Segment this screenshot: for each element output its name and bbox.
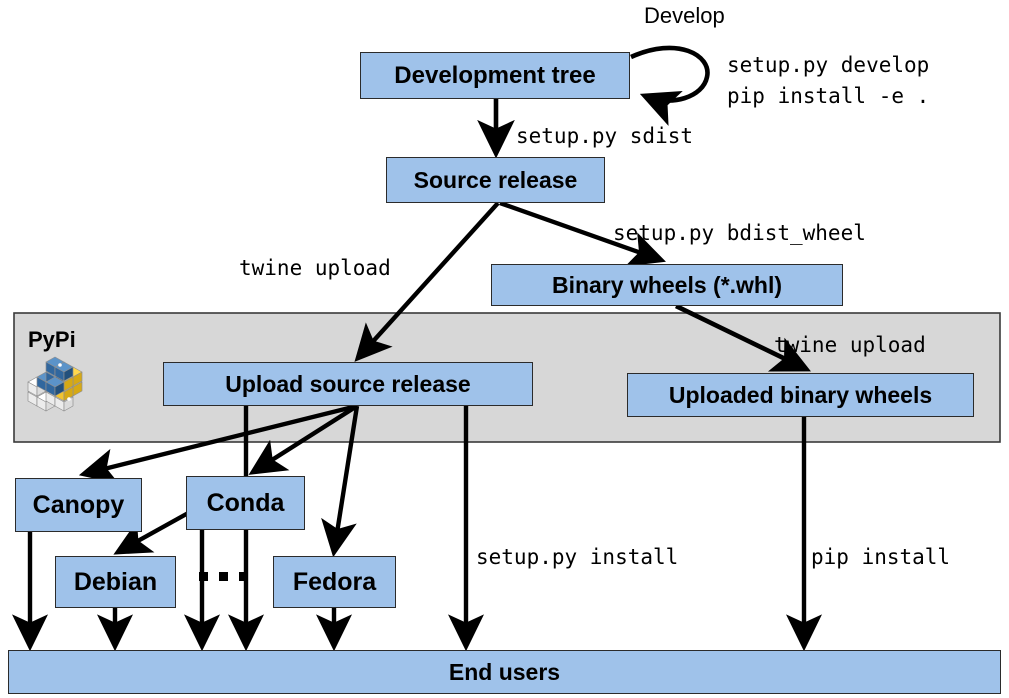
python-cubes-icon [24, 354, 86, 412]
diagram-canvas: PyPi [0, 0, 1009, 698]
node-binary-wheels[interactable]: Binary wheels (*.whl) [491, 264, 843, 306]
pypi-region-label: PyPi [28, 327, 76, 353]
node-source-release[interactable]: Source release [386, 157, 605, 203]
label-setup-py-develop: setup.py develop [727, 52, 929, 79]
node-conda[interactable]: Conda [186, 476, 305, 530]
label-setup-py-sdist: setup.py sdist [516, 123, 693, 150]
node-debian[interactable]: Debian [55, 556, 176, 608]
node-development-tree[interactable]: Development tree [360, 52, 630, 99]
label-setup-py-bdist-wheel: setup.py bdist_wheel [613, 220, 866, 247]
ellipsis-dot-2 [219, 572, 228, 581]
node-fedora[interactable]: Fedora [273, 556, 396, 608]
develop-self-loop-arrow [631, 48, 707, 101]
node-upload-source-release[interactable]: Upload source release [163, 362, 533, 406]
ellipsis-dot-3 [239, 572, 248, 581]
label-setup-py-install: setup.py install [476, 544, 678, 571]
ellipsis-dot-1 [199, 572, 208, 581]
node-canopy[interactable]: Canopy [15, 478, 142, 532]
label-pip-install: pip install [811, 544, 950, 571]
node-end-users[interactable]: End users [8, 650, 1001, 694]
label-twine-upload-source: twine upload [239, 255, 391, 282]
ellipsis-dots [199, 572, 248, 581]
label-pip-install-editable: pip install -e . [727, 83, 929, 110]
label-develop: Develop [644, 3, 725, 29]
label-twine-upload-wheels: twine upload [774, 332, 926, 359]
node-uploaded-binary-wheels[interactable]: Uploaded binary wheels [627, 373, 974, 417]
